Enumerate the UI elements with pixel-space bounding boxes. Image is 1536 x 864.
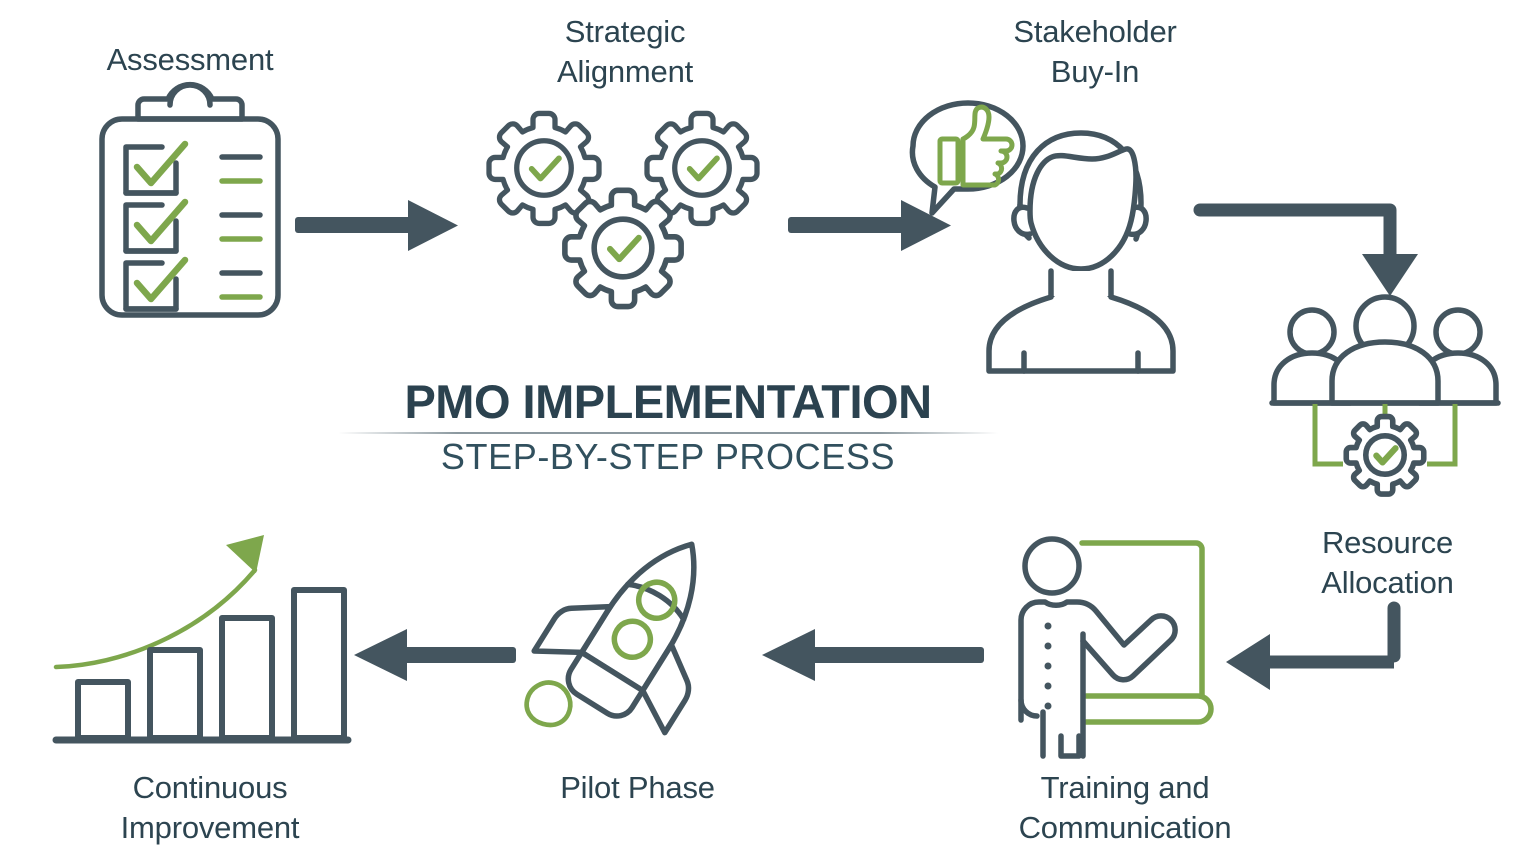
person-thumbs-up-icon bbox=[920, 95, 1210, 345]
step-label-assessment: Assessment bbox=[55, 40, 325, 80]
step-icon-assessment bbox=[90, 95, 290, 325]
connector-training-to-pilot bbox=[760, 625, 985, 685]
arrow-left-icon bbox=[760, 625, 985, 685]
presenter-board-icon bbox=[1010, 530, 1240, 760]
three-gears-check-icon bbox=[478, 108, 768, 288]
rocket-icon bbox=[535, 520, 735, 750]
connector-stakeholder-to-resource bbox=[1196, 198, 1426, 298]
step-icon-training bbox=[1010, 530, 1240, 760]
connector-pilot-to-continuous bbox=[352, 625, 517, 685]
step-icon-strategic bbox=[478, 108, 768, 288]
step-icon-resource bbox=[1270, 300, 1500, 505]
step-label-pilot: Pilot Phase bbox=[510, 768, 765, 808]
team-gear-icon bbox=[1270, 300, 1500, 505]
step-label-continuous: Continuous Improvement bbox=[75, 768, 345, 847]
growth-bar-chart-icon bbox=[50, 515, 350, 760]
page-subtitle: STEP-BY-STEP PROCESS bbox=[318, 438, 1018, 476]
step-label-training: Training and Communication bbox=[960, 768, 1290, 847]
page-title-block: PMO IMPLEMENTATION STEP-BY-STEP PROCESS bbox=[318, 378, 1018, 476]
step-icon-stakeholder bbox=[920, 95, 1210, 345]
title-divider bbox=[338, 432, 998, 434]
connector-assessment-to-strategic bbox=[295, 198, 460, 253]
arrow-down-elbow-icon bbox=[1196, 198, 1426, 298]
arrow-left-icon bbox=[352, 625, 517, 685]
step-icon-pilot bbox=[535, 520, 735, 750]
step-icon-continuous bbox=[50, 515, 350, 760]
page-title: PMO IMPLEMENTATION bbox=[318, 378, 1018, 425]
step-label-resource: Resource Allocation bbox=[1255, 523, 1520, 602]
step-label-strategic: Strategic Alignment bbox=[480, 12, 770, 91]
arrow-right-icon bbox=[295, 198, 460, 253]
clipboard-checklist-icon bbox=[90, 95, 290, 325]
step-label-stakeholder: Stakeholder Buy-In bbox=[945, 12, 1245, 91]
infographic-canvas: PMO IMPLEMENTATION STEP-BY-STEP PROCESS … bbox=[0, 0, 1536, 864]
